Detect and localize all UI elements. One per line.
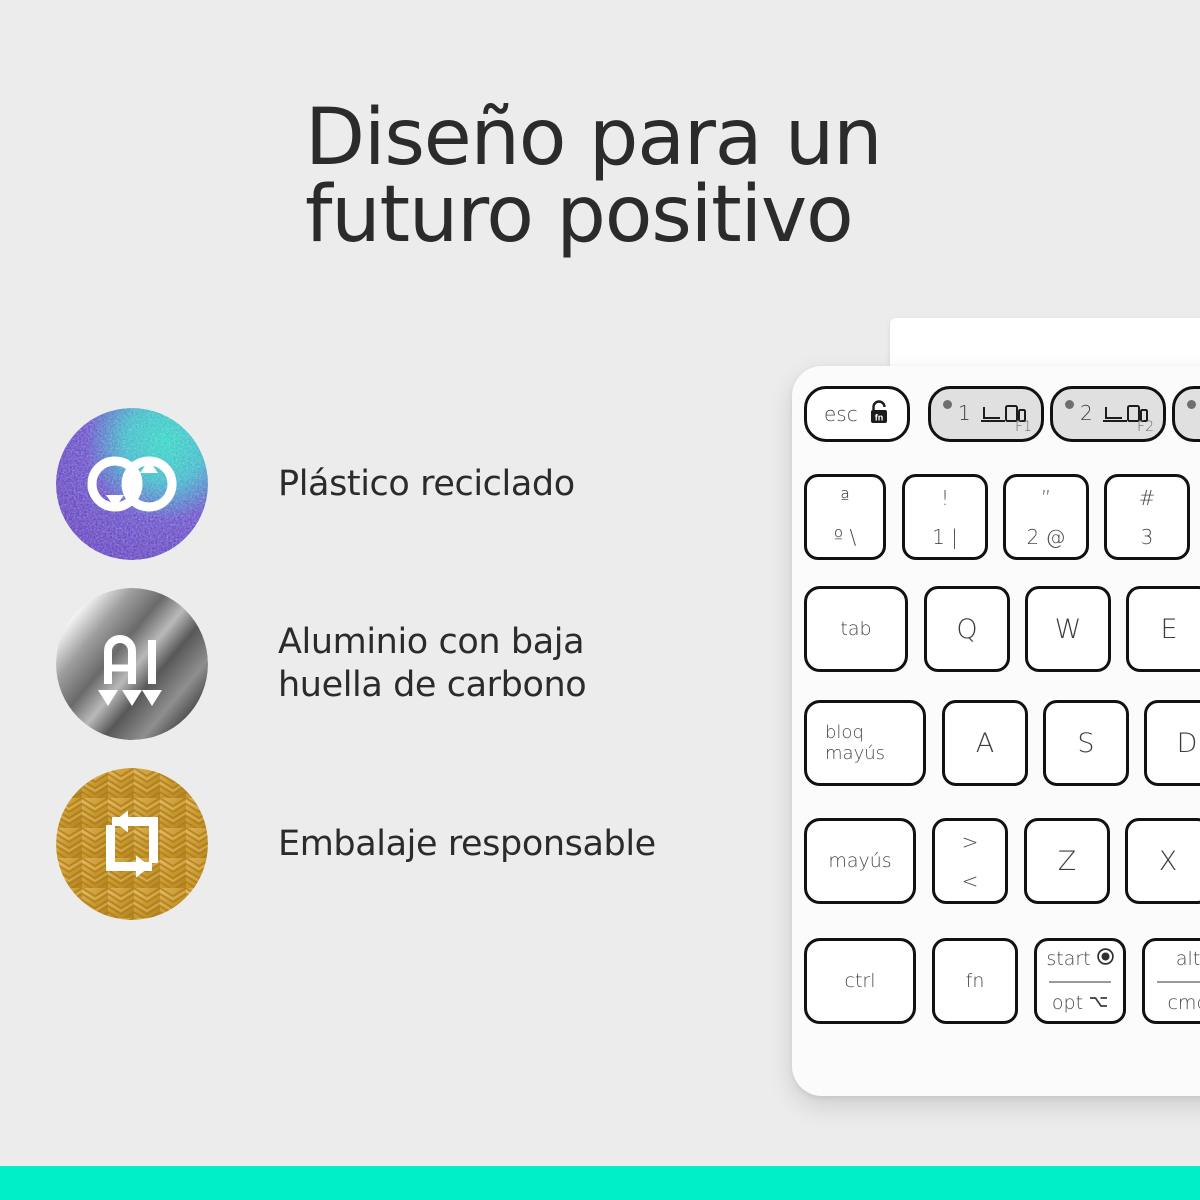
f2-channel-number: 2 xyxy=(1080,401,1093,425)
key-a-label: A xyxy=(976,728,994,759)
key-start-row: start xyxy=(1037,941,1123,981)
key-digit-3-bottom: 3 xyxy=(1107,525,1187,549)
feature-list: Plástico reciclado xyxy=(56,408,736,948)
key-w[interactable]: W xyxy=(1025,586,1111,672)
key-less-label: < xyxy=(935,869,1005,893)
keyboard-product-photo: esc fn 1 xyxy=(762,318,1200,1108)
key-q-label: Q xyxy=(956,614,977,645)
product-marketing-image: Diseño para un futuro positivo xyxy=(0,0,1200,1200)
key-shift-label: mayús xyxy=(828,850,891,872)
feature-item-low-carbon-aluminum: Aluminio con baja huella de carbono xyxy=(56,588,736,768)
key-s-label: S xyxy=(1077,728,1094,759)
low-carbon-aluminum-icon xyxy=(56,588,208,740)
key-a[interactable]: A xyxy=(942,700,1028,786)
feature-label-low-carbon-aluminum: Aluminio con baja huella de carbono xyxy=(278,588,728,740)
key-start-opt[interactable]: start opt xyxy=(1034,938,1126,1024)
f2-key-label: F2 xyxy=(1137,419,1154,435)
key-f1[interactable]: 1 F1 xyxy=(928,386,1044,442)
key-fn[interactable]: fn xyxy=(932,938,1018,1024)
key-alt-row: alt xyxy=(1145,941,1200,981)
key-e[interactable]: E xyxy=(1126,586,1200,672)
key-ordinal-bottom: º \ xyxy=(807,525,883,549)
key-alt-cmd[interactable]: alt cmd xyxy=(1142,938,1200,1024)
windows-start-icon xyxy=(1097,948,1114,970)
key-digit-3[interactable]: # 3 xyxy=(1104,474,1190,560)
headline-line-1: Diseño para un xyxy=(305,100,1005,176)
key-digit-1[interactable]: ! 1 | xyxy=(902,474,988,560)
key-opt-row: opt xyxy=(1037,981,1123,1021)
bottom-accent-bar xyxy=(0,1166,1200,1200)
feature-item-recycled-plastic: Plástico reciclado xyxy=(56,408,736,588)
key-digit-2[interactable]: ” 2 @ xyxy=(1003,474,1089,560)
f2-status-dot xyxy=(1065,400,1074,409)
key-digit-2-top: ” xyxy=(1006,486,1086,510)
key-z[interactable]: Z xyxy=(1024,818,1110,904)
key-esc-label: esc xyxy=(824,402,858,426)
key-e-label: E xyxy=(1160,614,1177,645)
fn-lock-icon: fn xyxy=(867,399,891,429)
feature-label-responsible-packaging: Embalaje responsable xyxy=(278,768,728,920)
key-less-greater[interactable]: > < xyxy=(932,818,1008,904)
key-ordinal[interactable]: ª º \ xyxy=(804,474,886,560)
recycled-plastic-icon xyxy=(56,408,208,560)
key-start-label: start xyxy=(1046,948,1090,970)
key-caps-lock[interactable]: bloq mayús xyxy=(804,700,926,786)
key-opt-label: opt xyxy=(1052,992,1083,1014)
key-z-label: Z xyxy=(1058,846,1077,877)
key-tab-label: tab xyxy=(840,618,871,640)
keyboard-keys: esc fn 1 xyxy=(762,318,1200,1108)
feature-label-recycled-plastic: Plástico reciclado xyxy=(278,408,728,560)
feature-item-responsible-packaging: Embalaje responsable xyxy=(56,768,736,948)
key-s[interactable]: S xyxy=(1043,700,1129,786)
key-ctrl-label: ctrl xyxy=(845,970,876,992)
f1-key-label: F1 xyxy=(1015,419,1032,435)
key-shift[interactable]: mayús xyxy=(804,818,916,904)
key-q[interactable]: Q xyxy=(924,586,1010,672)
key-tab[interactable]: tab xyxy=(804,586,908,672)
key-cmd-row: cmd xyxy=(1145,981,1200,1021)
f1-status-dot xyxy=(943,400,952,409)
f1-channel-number: 1 xyxy=(958,401,971,425)
responsible-packaging-icon xyxy=(56,768,208,920)
key-caps-lock-label: bloq mayús xyxy=(825,722,885,764)
key-f2[interactable]: 2 F2 xyxy=(1050,386,1166,442)
svg-text:fn: fn xyxy=(875,412,884,422)
f3-status-dot xyxy=(1187,400,1196,409)
key-alt-label: alt xyxy=(1176,948,1200,970)
page-title: Diseño para un futuro positivo xyxy=(305,100,1005,253)
key-cmd-label: cmd xyxy=(1167,992,1200,1014)
key-f3[interactable]: 3 xyxy=(1172,386,1200,442)
key-greater-label: > xyxy=(935,830,1005,854)
key-d[interactable]: D xyxy=(1144,700,1200,786)
key-x-label: X xyxy=(1159,846,1178,877)
key-esc[interactable]: esc fn xyxy=(804,386,910,442)
key-d-label: D xyxy=(1177,728,1198,759)
key-ordinal-top: ª xyxy=(807,486,883,510)
key-digit-3-top: # xyxy=(1107,486,1187,510)
key-digit-1-top: ! xyxy=(905,486,985,510)
key-fn-label: fn xyxy=(966,970,985,992)
key-ctrl[interactable]: ctrl xyxy=(804,938,916,1024)
option-icon xyxy=(1089,992,1108,1014)
key-digit-1-bottom: 1 | xyxy=(905,525,985,549)
key-x[interactable]: X xyxy=(1125,818,1200,904)
headline-line-2: futuro positivo xyxy=(305,177,1005,253)
key-digit-2-bottom: 2 @ xyxy=(1006,525,1086,549)
key-w-label: W xyxy=(1055,614,1082,645)
